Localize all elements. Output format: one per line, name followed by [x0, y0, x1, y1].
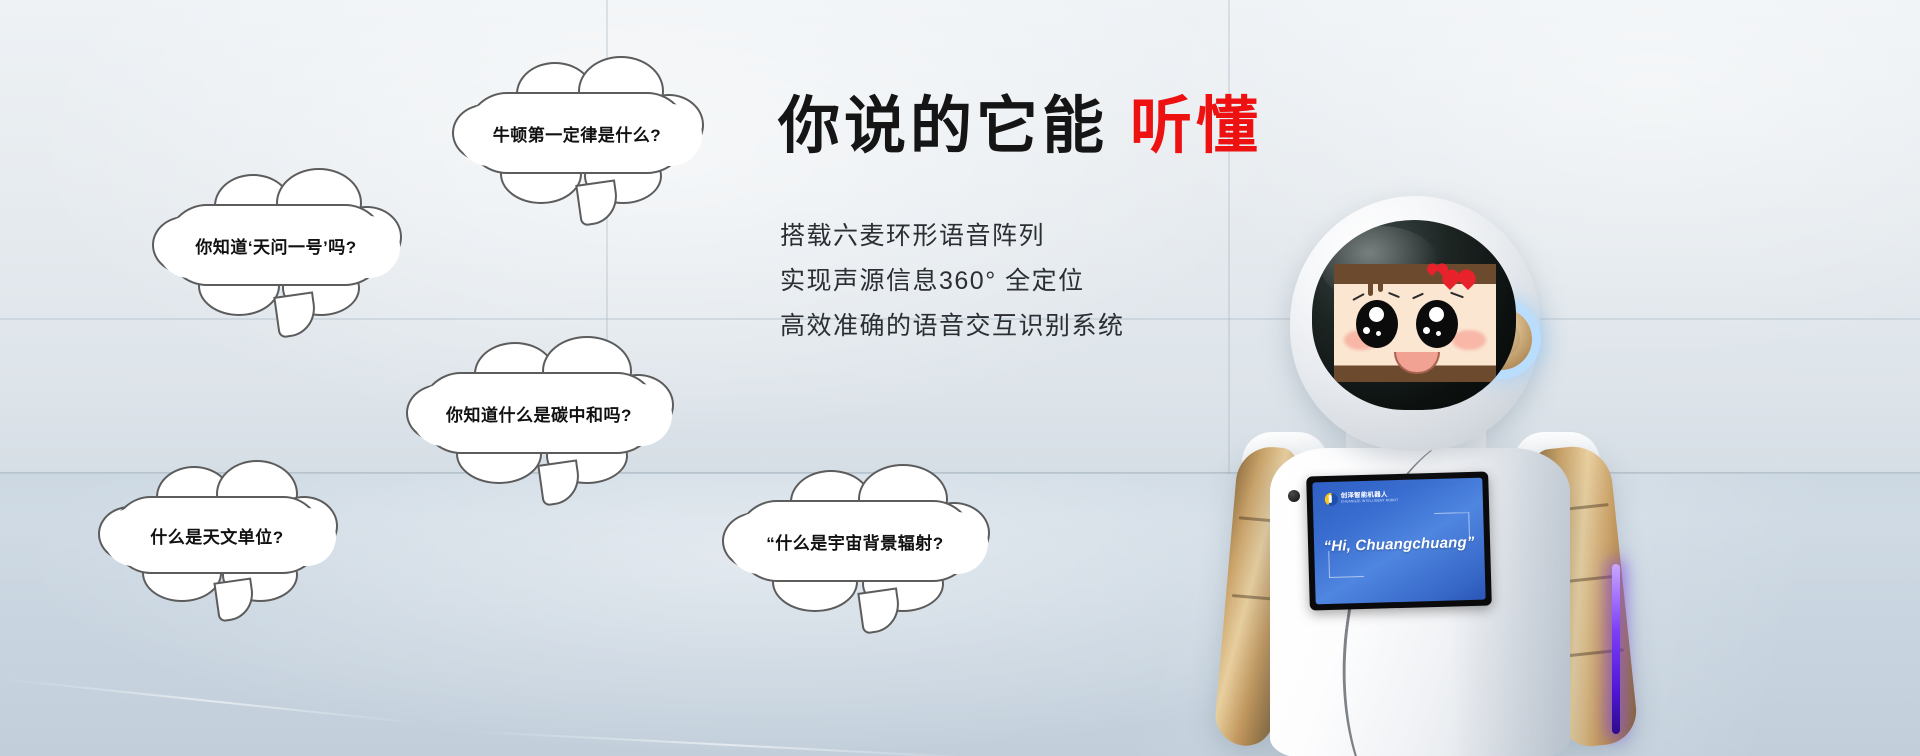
- robot-tablet-bezel: 创泽智能机器人 CHUANGZE INTELLIGENT ROBOT “Hi, …: [1306, 471, 1492, 610]
- bubble-body: 什么是天文单位?: [112, 496, 322, 574]
- bubble-text: 你知道什么是碳中和吗?: [446, 401, 632, 426]
- service-robot: 创泽智能机器人 CHUANGZE INTELLIGENT ROBOT “Hi, …: [1150, 196, 1710, 756]
- speech-bubble-cosmic-background[interactable]: “什么是宇宙背景辐射?: [736, 486, 974, 568]
- microphone-icon: [1288, 490, 1300, 502]
- heart-icon: [1450, 274, 1468, 290]
- logo-text: 创泽智能机器人 CHUANGZE INTELLIGENT ROBOT: [1341, 492, 1399, 504]
- banner-stage: 你说的它能听懂 搭载六麦环形语音阵列 实现声源信息360° 全定位 高效准确的语…: [0, 0, 1920, 756]
- speech-bubble-carbon-neutral[interactable]: 你知道什么是碳中和吗?: [420, 358, 658, 440]
- face-eye-right: [1416, 300, 1458, 348]
- subtitle-line-2: 实现声源信息360° 全定位: [780, 261, 1085, 297]
- bubble-body: “什么是宇宙背景辐射?: [736, 500, 974, 582]
- face-eye-left: [1356, 300, 1398, 348]
- speech-bubble-newton-law[interactable]: 牛顿第一定律是什么?: [466, 78, 688, 160]
- speech-bubble-astronomical-unit[interactable]: 什么是天文单位?: [112, 482, 322, 560]
- logo-text-en: CHUANGZE INTELLIGENT ROBOT: [1341, 499, 1398, 504]
- eye-highlight: [1436, 331, 1441, 336]
- face-bangs: [1378, 280, 1383, 292]
- robot-face: [1334, 264, 1496, 382]
- eyelash: [1352, 293, 1364, 301]
- bubble-text: 牛顿第一定律是什么?: [493, 121, 661, 146]
- face-blush-right: [1452, 330, 1486, 350]
- page-title: 你说的它能听懂: [778, 96, 1262, 158]
- face-mouth: [1394, 352, 1440, 374]
- headline-lead: 你说的它能: [778, 92, 1108, 161]
- eyelash: [1388, 292, 1400, 298]
- subtitle-line-3: 高效准确的语音交互识别系统: [780, 306, 1125, 342]
- eye-highlight: [1376, 331, 1381, 336]
- eye-highlight: [1369, 307, 1384, 322]
- headline-accent: 听懂: [1130, 92, 1262, 161]
- bubble-text: 你知道‘天问一号’吗?: [195, 233, 356, 258]
- bubble-body: 牛顿第一定律是什么?: [466, 92, 688, 174]
- screen-greeting-text: “Hi, Chuangchuang”: [1314, 534, 1484, 556]
- robot-tablet-screen[interactable]: 创泽智能机器人 CHUANGZE INTELLIGENT ROBOT “Hi, …: [1312, 478, 1485, 605]
- eye-highlight: [1423, 327, 1430, 334]
- bubble-text: “什么是宇宙背景辐射?: [766, 529, 943, 554]
- bubble-body: 你知道‘天问一号’吗?: [166, 204, 386, 286]
- face-bangs: [1368, 280, 1373, 296]
- eyelash: [1450, 292, 1464, 299]
- robot-led-strip: [1612, 564, 1620, 734]
- eye-highlight: [1429, 307, 1444, 322]
- bubble-text: 什么是天文单位?: [150, 523, 283, 548]
- eyelash: [1412, 293, 1424, 300]
- subtitle-line-1: 搭载六麦环形语音阵列: [780, 216, 1045, 252]
- robot-face-visor: [1312, 220, 1516, 410]
- eye-highlight: [1363, 327, 1370, 334]
- bubble-body: 你知道什么是碳中和吗?: [420, 372, 658, 454]
- speech-bubble-tianwen-1[interactable]: 你知道‘天问一号’吗?: [166, 190, 386, 272]
- robot-torso: 创泽智能机器人 CHUANGZE INTELLIGENT ROBOT “Hi, …: [1270, 448, 1570, 756]
- brand-logo: 创泽智能机器人 CHUANGZE INTELLIGENT ROBOT: [1325, 491, 1399, 506]
- heart-icon: [1432, 266, 1443, 276]
- logo-mark-icon: [1325, 493, 1338, 506]
